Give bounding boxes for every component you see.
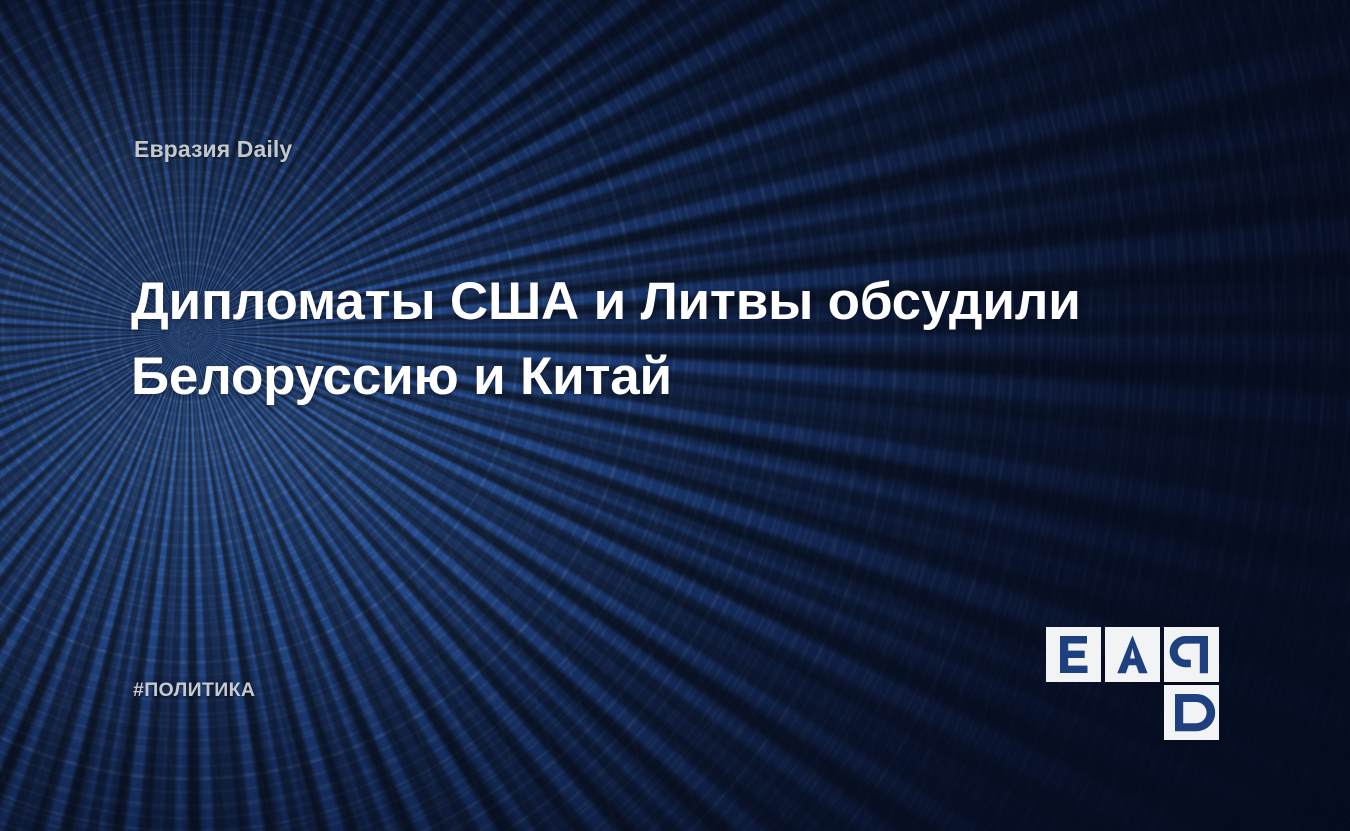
eadaily-logo[interactable] bbox=[1046, 627, 1220, 743]
page-title: Дипломаты США и Литвы обсудили Белорусси… bbox=[131, 264, 1141, 415]
card-content: Евразия Daily Дипломаты США и Литвы обсу… bbox=[0, 0, 1350, 831]
logo-letter-a-glyph bbox=[1117, 635, 1147, 673]
logo-tile-d-upper bbox=[1164, 627, 1219, 682]
site-brand-label[interactable]: Евразия Daily bbox=[134, 136, 292, 163]
logo-tile-a bbox=[1105, 627, 1160, 682]
news-card: Евразия Daily Дипломаты США и Литвы обсу… bbox=[0, 0, 1350, 831]
logo-letter-e-glyph bbox=[1060, 636, 1088, 673]
logo-tile-d-lower bbox=[1164, 685, 1219, 740]
logo-letter-d-lower-glyph bbox=[1175, 694, 1215, 731]
logo-letter-d-upper-glyph bbox=[1170, 636, 1208, 673]
logo-tile-e bbox=[1046, 627, 1101, 682]
rubric-tag-politics[interactable]: #ПОЛИТИКА bbox=[133, 679, 255, 702]
